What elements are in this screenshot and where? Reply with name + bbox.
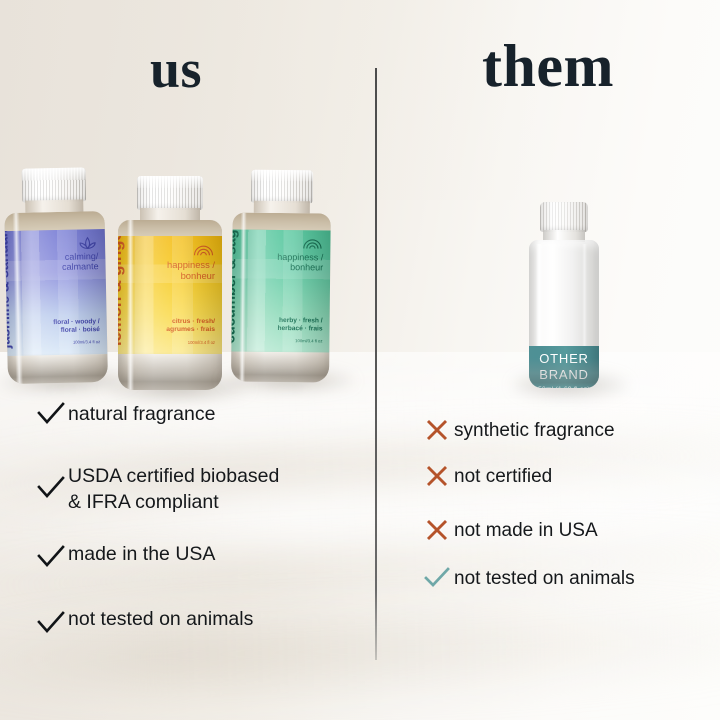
bottle-label: SenseScent lemon & ginger happiness / bo…: [118, 236, 222, 354]
list-item-label: not tested on animals: [68, 607, 253, 633]
list-item-label: synthetic fragrance: [454, 418, 615, 443]
list-item-label: made in the USA: [68, 542, 215, 568]
check-icon: [34, 542, 68, 569]
column-heading-us: us: [150, 42, 202, 96]
glass-highlight: [551, 244, 555, 362]
bottle-scent-name: cucumber & sage: [231, 229, 238, 343]
product-bottle-jasmine-sandalwood: SenseScent jasmine & sandalwood calming/…: [4, 167, 108, 384]
bottle-cap: [22, 167, 87, 202]
competitor-bottle-other-brand: OTHER BRAND 50ml (1.69 fl oz): [529, 202, 599, 388]
glass-highlight: [582, 244, 587, 362]
column-divider: [375, 68, 377, 660]
list-item: made in the USA: [34, 542, 215, 569]
list-item-label: not made in USA: [454, 518, 598, 543]
cross-icon: [420, 418, 454, 442]
bottle-cap: [540, 202, 588, 232]
rainbow-icon: [193, 244, 214, 256]
bottle-mood: happiness / bonheur: [277, 252, 323, 273]
check-icon: [34, 402, 68, 426]
feature-list-them: synthetic fragrance not certified: [420, 418, 710, 608]
bottle-base-shading: [529, 358, 599, 388]
comparison-infographic: us them SenseScent jasmine & sandalwood: [0, 0, 720, 720]
cross-icon: [420, 518, 454, 542]
lotus-icon: [78, 236, 97, 249]
check-icon: [420, 566, 454, 590]
bottle-volume: 100ml/3.4 fl oz: [188, 341, 215, 345]
bottle-mood: calming/ calmante: [62, 251, 99, 272]
list-item: not certified: [420, 464, 552, 489]
bottle-cap: [137, 176, 203, 210]
bottle-volume: 100ml/3.4 fl oz: [73, 340, 100, 345]
list-item: not tested on animals: [34, 607, 253, 635]
glass-highlight: [536, 244, 543, 362]
list-item-label: not certified: [454, 464, 552, 489]
product-bottle-cucumber-sage: SenseScent cucumber & sage happiness / b…: [231, 169, 331, 382]
list-item: USDA certified biobased & IFRA compliant: [34, 464, 279, 515]
bottle-body: SenseScent cucumber & sage happiness / b…: [231, 212, 331, 382]
list-item: not made in USA: [420, 518, 598, 543]
bottle-body: SenseScent lemon & ginger happiness / bo…: [118, 220, 222, 390]
column-heading-them: them: [482, 36, 614, 96]
bottle-mood: happiness / bonheur: [167, 260, 215, 281]
bottle-volume: 100ml/3.4 fl oz: [295, 339, 322, 343]
bottle-body: SenseScent jasmine & sandalwood calming/…: [4, 211, 108, 384]
list-item: natural fragrance: [34, 402, 215, 428]
bottle-scent-name: lemon & ginger: [118, 236, 124, 346]
cross-icon: [420, 464, 454, 488]
bottle-cap: [251, 170, 313, 204]
feature-list-us: natural fragrance USDA certified biobase…: [34, 402, 364, 652]
bottle-label: SenseScent cucumber & sage happiness / b…: [231, 229, 330, 352]
bottle-notes: herby · fresh / herbacé · frais: [277, 317, 322, 333]
bottle-base-shading: [7, 352, 108, 384]
list-item: not tested on animals: [420, 566, 635, 591]
bottle-base-shading: [231, 349, 329, 382]
product-bottle-lemon-ginger: SenseScent lemon & ginger happiness / bo…: [118, 176, 222, 390]
list-item: synthetic fragrance: [420, 418, 615, 443]
list-item-label: USDA certified biobased & IFRA compliant: [68, 464, 279, 515]
bottle-body: OTHER BRAND 50ml (1.69 fl oz): [529, 240, 599, 388]
check-icon: [34, 607, 68, 635]
bottle-notes: citrus · fresh/ agrumes · frais: [166, 318, 215, 334]
bottle-notes: floral · woody / floral · boisé: [53, 318, 100, 335]
list-item-label: natural fragrance: [68, 402, 215, 428]
list-item-label: not tested on animals: [454, 566, 635, 591]
rainbow-icon: [302, 237, 322, 249]
check-icon: [34, 464, 68, 500]
bottle-label: SenseScent jasmine & sandalwood calming/…: [5, 229, 108, 356]
bottle-base-shading: [118, 352, 222, 390]
